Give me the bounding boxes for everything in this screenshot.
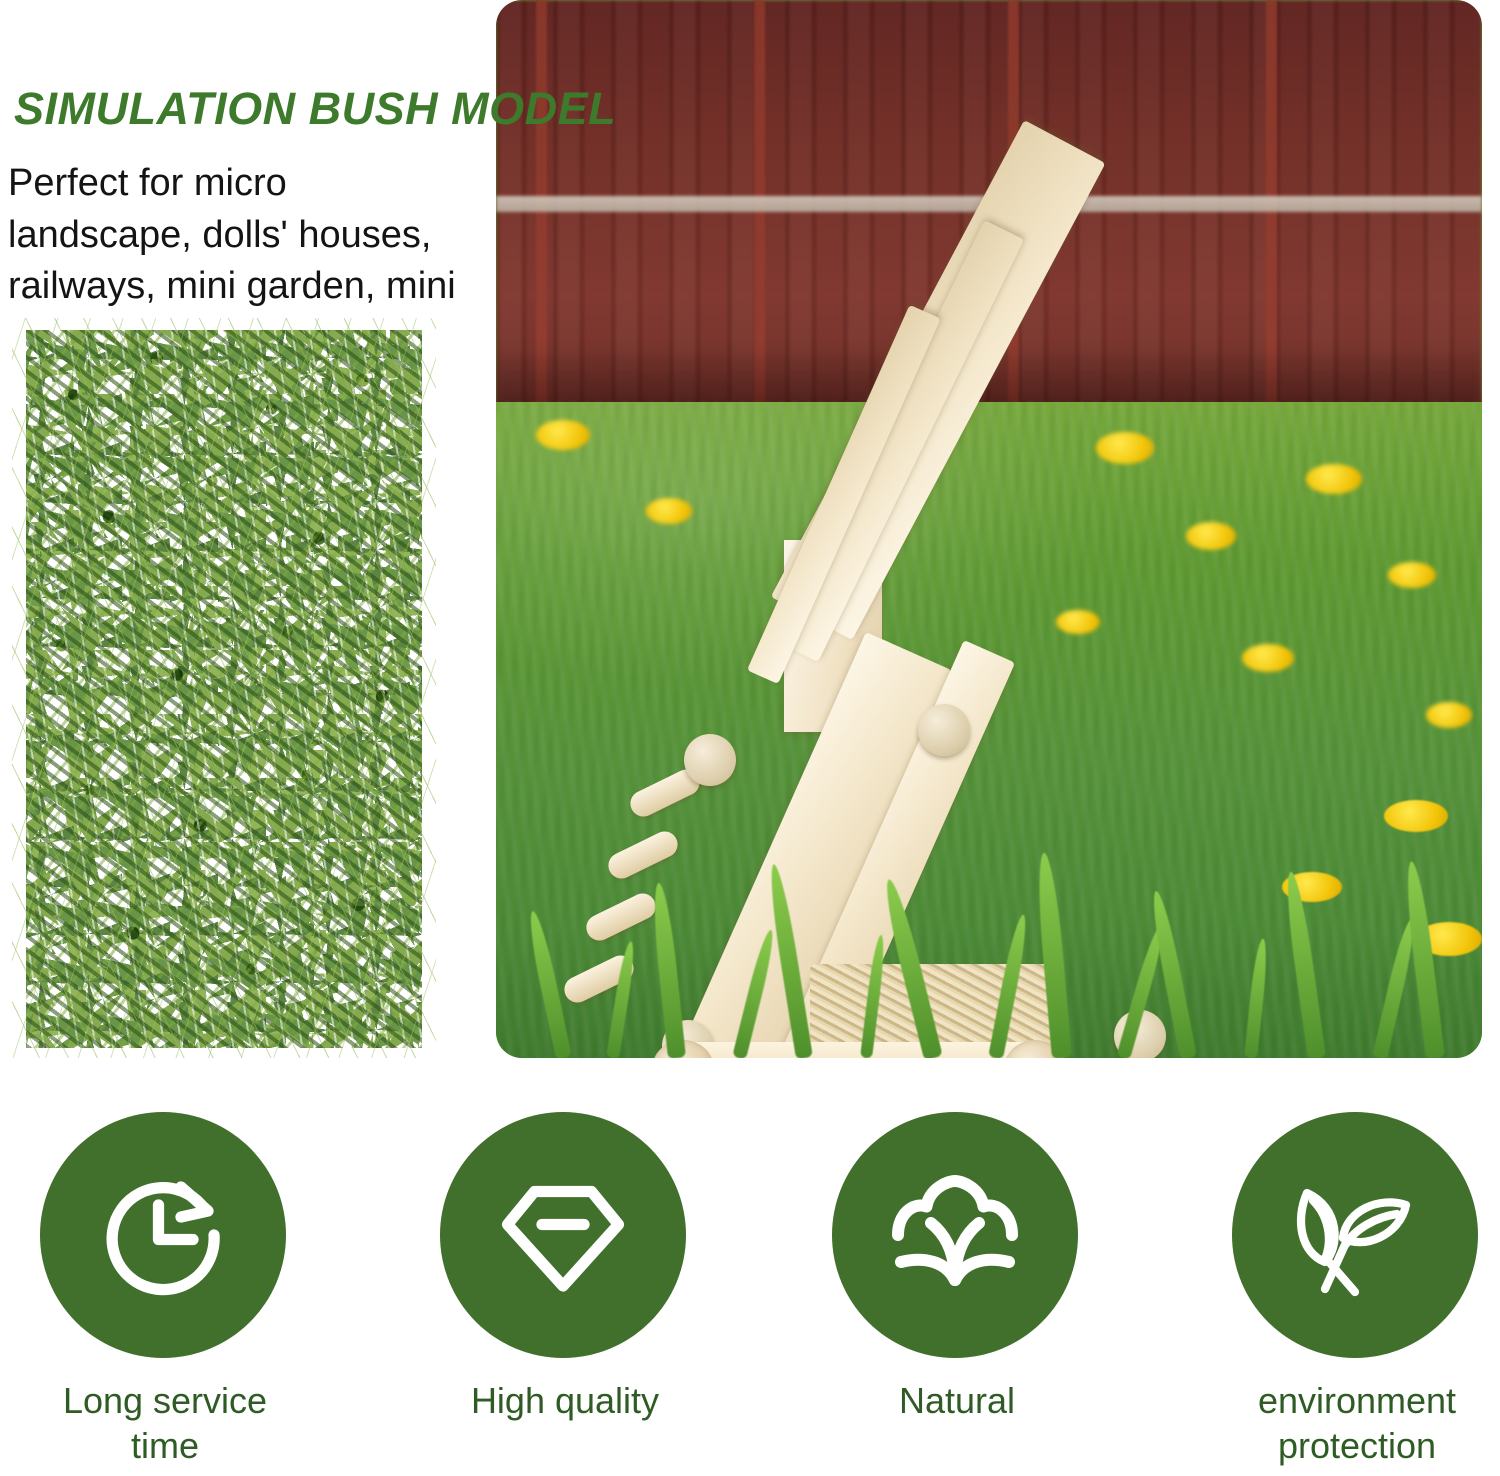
feature-high-quality: High quality <box>440 1112 690 1423</box>
feature-icon-circle <box>1232 1112 1478 1358</box>
grass-blade <box>732 928 778 1058</box>
grass-blade <box>525 910 572 1058</box>
dandelion-flower <box>1242 644 1294 672</box>
feature-long-service-time: Long service time <box>40 1112 290 1468</box>
dandelion-flower <box>1306 464 1362 494</box>
feature-label: environment protection <box>1232 1378 1482 1468</box>
grass-lawn <box>496 402 1482 1058</box>
dandelion-flower <box>1096 432 1154 464</box>
cotton-plant-icon <box>880 1160 1030 1310</box>
feature-icon-circle <box>440 1112 686 1358</box>
feature-icon-circle <box>40 1112 286 1358</box>
foreground-grass <box>496 828 1482 1058</box>
feature-highlights-row: Long service time High quality <box>0 1112 1500 1476</box>
feature-natural: Natural <box>832 1112 1082 1423</box>
feature-environment-protection: environment protection <box>1232 1112 1482 1468</box>
dandelion-flower <box>1388 562 1436 588</box>
bush-swatch-photo <box>8 318 440 1058</box>
roof-peg <box>684 734 736 786</box>
dandelion-flower <box>1426 702 1472 728</box>
feature-label: Natural <box>832 1378 1082 1423</box>
leaves-icon <box>1280 1160 1430 1310</box>
page-title: SIMULATION BUSH MODEL <box>14 83 616 135</box>
grass-blade <box>606 940 637 1058</box>
grass-blade <box>860 934 887 1058</box>
diamond-gem-icon <box>488 1160 638 1310</box>
grass-blade <box>988 913 1031 1058</box>
grass-blade <box>1282 871 1326 1058</box>
grass-blade <box>1148 889 1197 1057</box>
grass-blade <box>650 882 686 1058</box>
roof-peg <box>918 704 970 756</box>
grass-blade <box>1244 938 1269 1058</box>
grass-blade <box>765 863 812 1058</box>
feature-icon-circle <box>832 1112 1078 1358</box>
product-feature-page: SIMULATION BUSH MODEL Perfect for micro … <box>0 0 1500 1476</box>
clock-restore-icon <box>88 1160 238 1310</box>
grass-blade <box>880 877 943 1058</box>
dandelion-flower <box>536 420 590 450</box>
product-hero-photo <box>496 0 1482 1058</box>
bush-edge-fade <box>8 318 440 1058</box>
feature-label: Long service time <box>40 1378 290 1468</box>
grass-blade <box>1034 852 1072 1058</box>
feature-label: High quality <box>440 1378 690 1423</box>
